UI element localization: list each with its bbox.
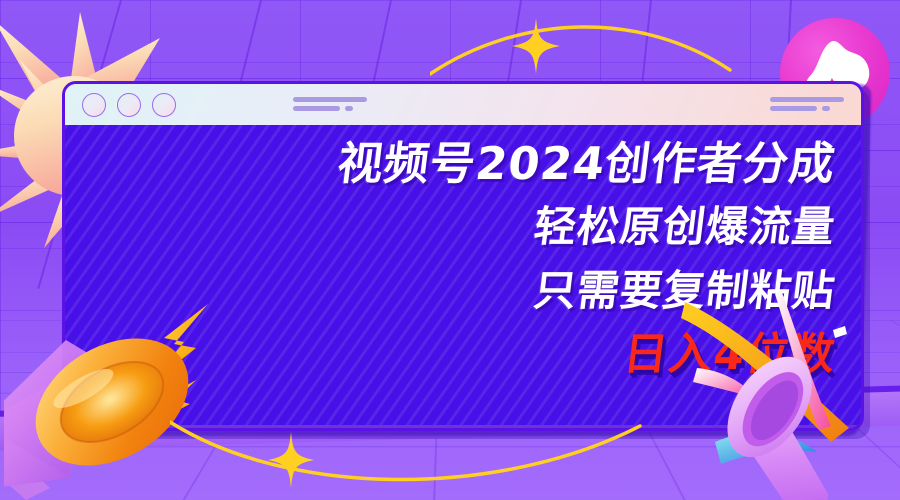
sparkle-star-icon-top: [512, 18, 560, 74]
window-control-dots[interactable]: [82, 93, 176, 117]
address-bar-right[interactable]: [770, 97, 844, 111]
address-bar-line-long: [770, 97, 844, 102]
window-close-dot[interactable]: [82, 93, 106, 117]
headline-line-1: 视频号2024创作者分成: [334, 133, 839, 195]
address-bar-line-short: [345, 106, 353, 111]
megaphone-icon: [4, 300, 219, 500]
headline-line-2: 轻松原创爆流量: [334, 195, 839, 259]
address-bar-line-short: [822, 106, 830, 111]
window-maximize-dot[interactable]: [152, 93, 176, 117]
window-minimize-dot[interactable]: [117, 93, 141, 117]
browser-titlebar[interactable]: [65, 84, 861, 125]
address-bar-line-medium: [770, 106, 817, 111]
poster-canvas: 视频号2024创作者分成 轻松原创爆流量 只需要复制粘贴 日入4位数: [0, 0, 900, 500]
sparkle-star-icon-bottom: [268, 432, 314, 488]
address-bar-line-long: [293, 97, 367, 102]
party-popper-icon: [681, 276, 900, 500]
confetti-chip-white: [833, 326, 847, 338]
address-bar-line-medium: [293, 106, 340, 111]
address-bar-left[interactable]: [293, 97, 367, 111]
